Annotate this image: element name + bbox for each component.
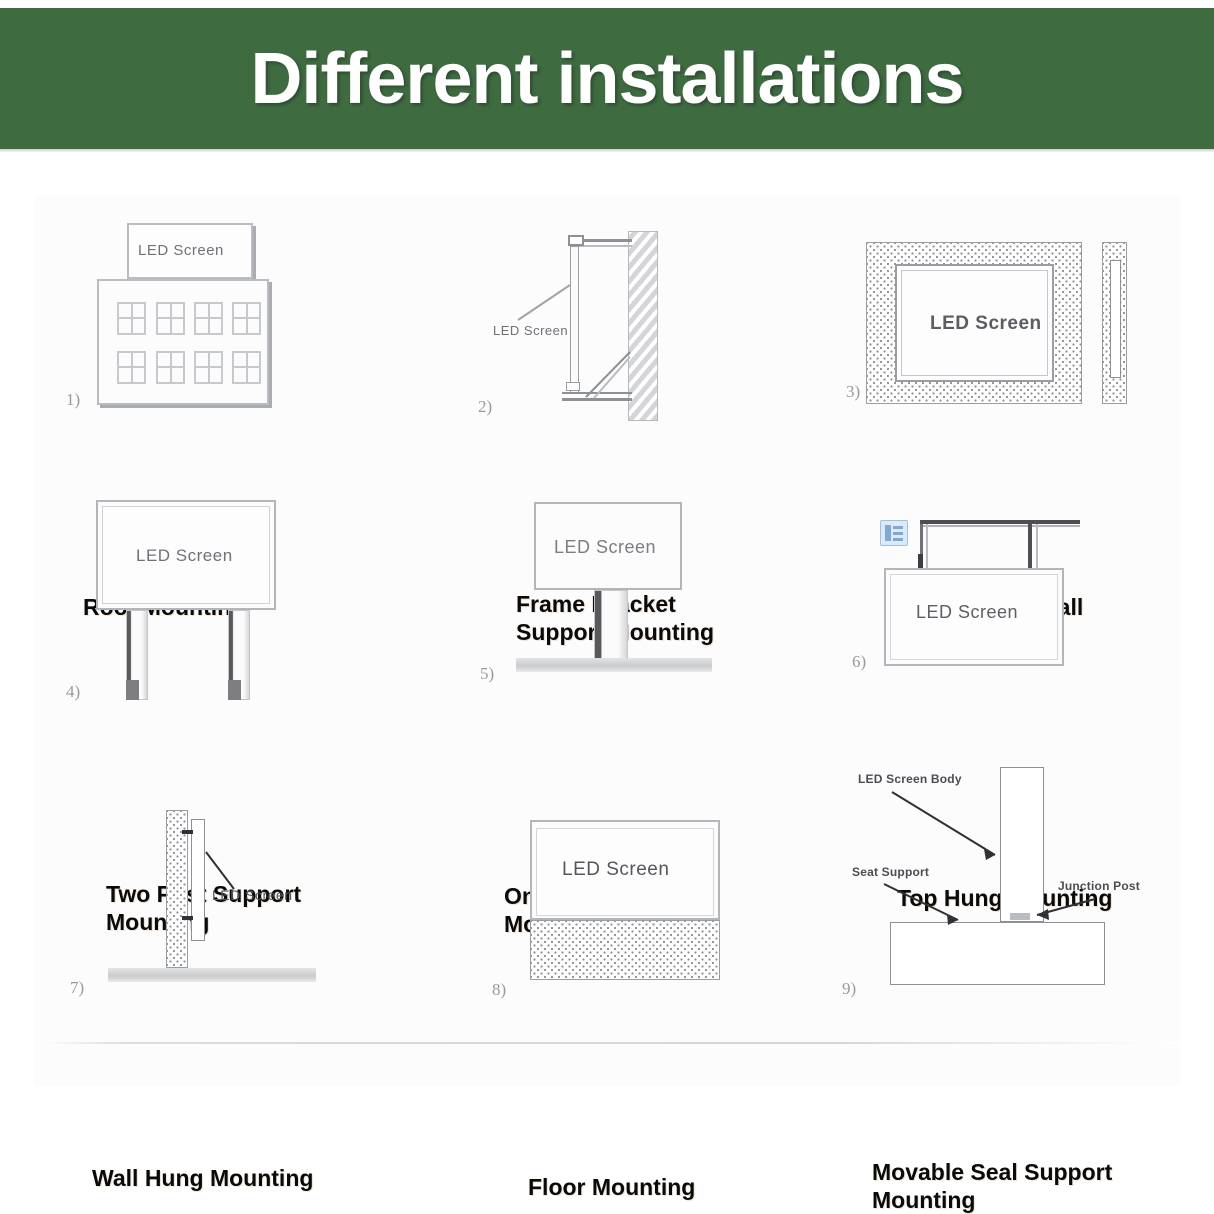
figure-6-number: 6) [852, 652, 866, 672]
figure-5-screen-label: LED Screen [554, 537, 656, 558]
figure-4-screen-label: LED Screen [136, 546, 233, 566]
image-placeholder-icon [880, 520, 908, 546]
window-transom [117, 317, 146, 319]
page-header: Different installations [0, 8, 1214, 149]
figure-2-number: 2) [478, 397, 492, 417]
center-support-post [594, 590, 628, 660]
page-title: Different installations [250, 43, 963, 115]
figure-6-screen-label: LED Screen [916, 602, 1018, 623]
figure-2-screen-label: LED Screen [493, 323, 568, 338]
figure-embedded-in-wall-mounting: LED Screen 3) [840, 207, 1190, 477]
overhead-beam [920, 520, 1080, 524]
figure-7-leader-line [70, 792, 410, 1022]
callout-junction-post: Junction Post [1058, 879, 1140, 893]
figure-4-number: 4) [66, 682, 80, 702]
overhead-beam-lower [920, 525, 1080, 527]
figure-3-number: 3) [846, 382, 860, 402]
window-transom [194, 366, 223, 368]
window-transom [156, 366, 185, 368]
figure-2-leader-line [470, 207, 810, 477]
callout-led-screen-body: LED Screen Body [858, 772, 962, 786]
figure-7-caption: Wall Hung Mounting [92, 1164, 422, 1192]
figure-7-number: 7) [70, 978, 84, 998]
window-transom [194, 317, 223, 319]
roof-screen-label: LED Screen [138, 242, 224, 259]
embedded-screen-side-profile [1110, 260, 1121, 378]
figure-7-screen-label: LED Screen [212, 887, 292, 903]
floor-base-block [530, 920, 720, 980]
figure-two-post-support-mounting: LED Screen 4) [60, 482, 400, 762]
ground-slab [108, 968, 316, 982]
figure-8-number: 8) [492, 980, 506, 1000]
hanger-left-pair [926, 524, 928, 570]
diagram-panel: LED Screen [0, 152, 1214, 1101]
figure-8-screen-label: LED Screen [562, 859, 669, 881]
window-transom [117, 366, 146, 368]
building-body [97, 279, 269, 405]
figure-5-number: 5) [480, 664, 494, 684]
figure-movable-seal-support-mounting: LED Screen Body Seat Support Junction Po… [840, 757, 1200, 1037]
window-transom [156, 317, 185, 319]
figure-1-number: 1) [66, 390, 80, 410]
bottom-divider [36, 1042, 1178, 1044]
callout-seat-support: Seat Support [852, 865, 929, 879]
window-transom [232, 317, 261, 319]
figure-frame-bracket-mounting: LED Screen 2) [470, 207, 810, 477]
ground-slab [516, 658, 712, 672]
post-base-right [228, 680, 241, 700]
figure-roof-mounting: LED Screen [60, 212, 400, 472]
post-base-left [126, 680, 139, 700]
figure-9-callout-leaders [840, 757, 1200, 1037]
figure-wall-hung-mounting: LED Screen 7) [70, 792, 410, 1022]
figure-3-screen-label: LED Screen [930, 313, 1042, 335]
figure-9-number: 9) [842, 979, 856, 999]
figure-one-post-support-mounting: LED Screen 5) [470, 482, 810, 762]
figure-floor-mounting: LED Screen 8) [480, 802, 820, 1032]
figure-9-caption: Movable Seal Support Mounting [872, 1158, 1202, 1214]
figure-8-caption: Floor Mounting [528, 1173, 858, 1201]
hanger-right [1028, 524, 1032, 570]
figure-top-hung-mounting: LED Screen 6) [850, 482, 1195, 762]
window-transom [232, 366, 261, 368]
hanger-right-pair [1036, 524, 1038, 570]
